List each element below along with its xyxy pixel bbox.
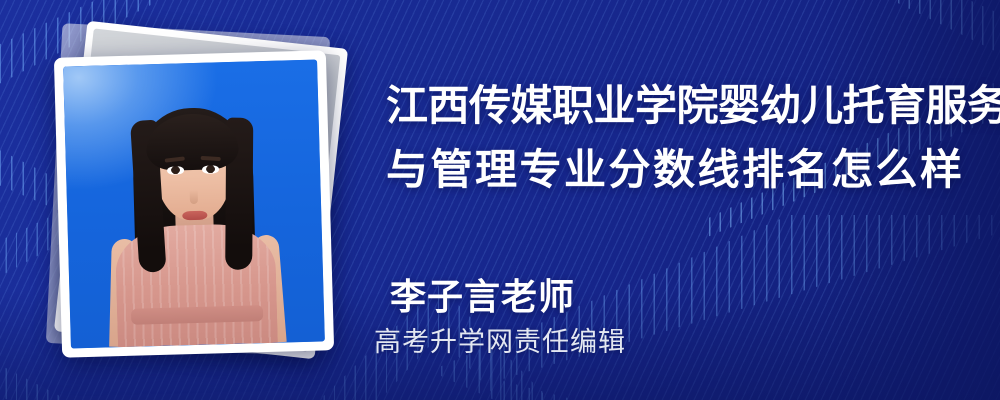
eye-right <box>202 165 219 173</box>
article-title: 江西传媒职业学院婴幼儿托育服务 与管理专业分数线排名怎么样 <box>386 74 966 202</box>
portrait-subject <box>63 60 325 349</box>
article-header-banner: 江西传媒职业学院婴幼儿托育服务 与管理专业分数线排名怎么样 李子言老师 高考升学… <box>0 0 1000 400</box>
portrait-card-front <box>54 50 334 357</box>
author-role: 高考升学网责任编辑 <box>374 320 626 359</box>
nose <box>190 190 198 204</box>
author-name: 李子言老师 <box>390 268 575 320</box>
portrait-card-stack <box>48 28 348 373</box>
article-title-line-2: 与管理专业分数线排名怎么样 <box>386 138 966 202</box>
mouth <box>182 211 207 221</box>
article-title-line-1: 江西传媒职业学院婴幼儿托育服务 <box>386 74 966 138</box>
author-portrait-photo <box>63 60 325 349</box>
eye-left <box>167 166 184 174</box>
